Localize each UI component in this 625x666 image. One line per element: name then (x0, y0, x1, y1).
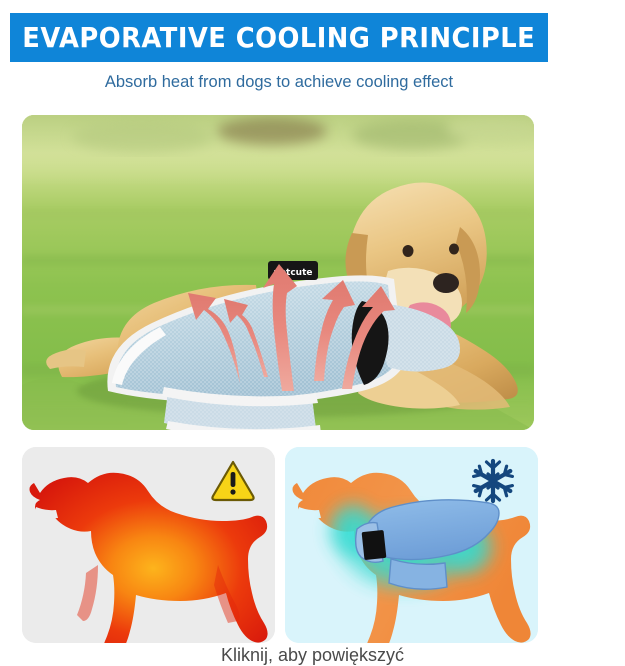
header-banner: EVAPORATIVE COOLING PRINCIPLE (10, 13, 548, 62)
overheated-dog-illustration (22, 447, 275, 643)
subtitle-text: Absorb heat from dogs to achieve cooling… (10, 73, 548, 92)
cooled-dog-illustration (285, 447, 538, 643)
panel-dog-without-vest[interactable] (22, 447, 275, 643)
hero-photo-panel[interactable]: petcute (22, 115, 534, 430)
zoom-hint-caption[interactable]: Kliknij, aby powiększyć (0, 645, 625, 666)
dog-cooling-vest-photo: petcute (22, 115, 534, 430)
page-title: EVAPORATIVE COOLING PRINCIPLE (23, 24, 536, 52)
product-infographic-page: EVAPORATIVE COOLING PRINCIPLE Absorb hea… (0, 0, 625, 660)
panel-dog-with-vest[interactable] (285, 447, 538, 643)
